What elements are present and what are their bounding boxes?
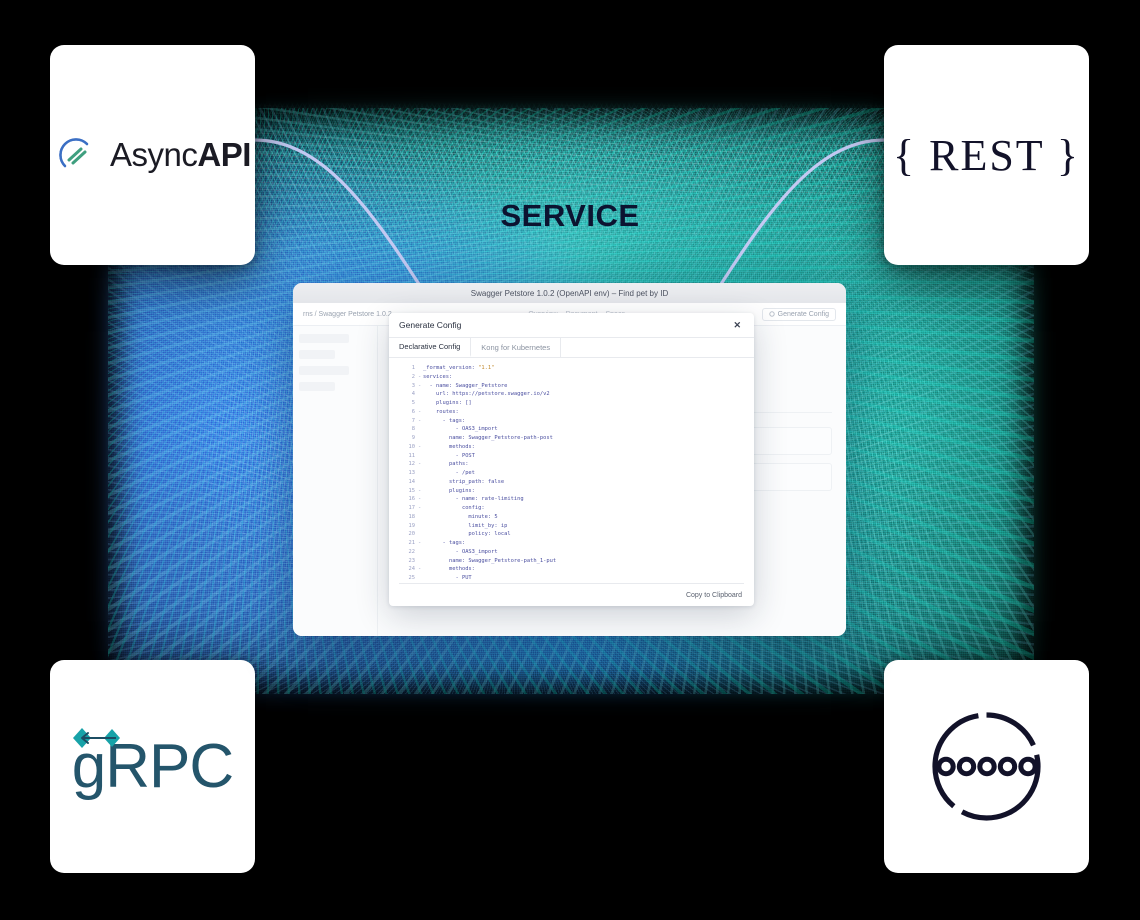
code-line: 6- routes: — [399, 408, 744, 417]
code-line: 3- - name: Swagger_Petstore — [399, 382, 744, 391]
line-number: 25 — [399, 574, 418, 583]
generate-config-button[interactable]: Generate Config — [762, 308, 836, 321]
card-grpc[interactable]: gRPC — [50, 660, 255, 873]
sidebar-placeholder — [299, 350, 335, 359]
code-text: name: Swagger_Petstore-path-post — [423, 434, 553, 443]
line-number: 22 — [399, 548, 418, 557]
line-number: 19 — [399, 522, 418, 531]
generate-config-modal[interactable]: Generate Config ✕ Declarative Config Kon… — [389, 313, 754, 606]
code-line: 4 url: https://petstore.swagger.io/v2 — [399, 390, 744, 399]
code-line: 2-services: — [399, 373, 744, 382]
code-line: 10- methods: — [399, 443, 744, 452]
swagger-sidebar[interactable] — [293, 326, 378, 636]
line-number: 10 — [399, 443, 418, 452]
code-text: minute: 5 — [423, 513, 498, 522]
card-asyncapi[interactable]: AsyncAPI — [50, 45, 255, 265]
close-icon[interactable]: ✕ — [730, 319, 744, 332]
code-line: 23 name: Swagger_Petstore-path_1-put — [399, 557, 744, 566]
line-number: 14 — [399, 478, 418, 487]
code-line: 12- paths: — [399, 460, 744, 469]
code-line: 14 strip_path: false — [399, 478, 744, 487]
code-text: methods: — [423, 565, 475, 574]
window-titlebar: Swagger Petstore 1.0.2 (OpenAPI env) – F… — [293, 283, 846, 304]
line-number: 2 — [399, 373, 418, 382]
line-number: 6 — [399, 408, 418, 417]
line-number: 7 — [399, 417, 418, 426]
code-text: plugins: [] — [423, 399, 472, 408]
code-text: routes: — [423, 408, 459, 417]
code-line: 9 name: Swagger_Petstore-path-post — [399, 434, 744, 443]
canvas: SERVICE AsyncAPI { REST } — [0, 0, 1140, 920]
card-rest[interactable]: { REST } — [884, 45, 1089, 265]
line-number: 21 — [399, 539, 418, 548]
code-text: policy: local — [423, 530, 511, 539]
code-line: 24- methods: — [399, 565, 744, 574]
code-text: - /pet — [423, 469, 475, 478]
code-line: 13 - /pet — [399, 469, 744, 478]
code-content: 1_format_version: "1.1"2-services:3- - n… — [399, 364, 744, 584]
code-text: _format_version: "1.1" — [423, 364, 494, 373]
code-text: - POST — [423, 452, 475, 461]
code-line: 11 - POST — [399, 452, 744, 461]
line-number: 12 — [399, 460, 418, 469]
code-text: - name: rate-limiting — [423, 495, 524, 504]
asyncapi-logo-icon — [54, 133, 98, 177]
code-text: - tags: — [423, 539, 465, 548]
code-text: - OAS3_import — [423, 425, 498, 434]
modal-title: Generate Config — [399, 320, 730, 330]
asyncapi-wordmark: AsyncAPI — [110, 136, 251, 174]
line-number: 9 — [399, 434, 418, 443]
code-line: 19 limit_by: ip — [399, 522, 744, 531]
code-line: 20 policy: local — [399, 530, 744, 539]
window-title: Swagger Petstore 1.0.2 (OpenAPI env) – F… — [471, 289, 668, 298]
code-text: paths: — [423, 460, 468, 469]
line-number: 4 — [399, 390, 418, 399]
sidebar-placeholder — [299, 334, 349, 343]
tab-kong-for-kubernetes[interactable]: Kong for Kubernetes — [471, 338, 561, 357]
code-line: 25 - PUT — [399, 574, 744, 583]
asyncapi-word-api: API — [197, 136, 251, 173]
code-text: - tags: — [423, 417, 465, 426]
code-string: "1.1" — [478, 365, 494, 371]
copy-to-clipboard-button[interactable]: Copy to Clipboard — [686, 592, 742, 599]
line-number: 5 — [399, 399, 418, 408]
breadcrumb[interactable]: rns / Swagger Petstore 1.0.2 — [303, 311, 392, 318]
line-number: 3 — [399, 382, 418, 391]
modal-footer: Copy to Clipboard — [389, 584, 754, 606]
code-text: - OAS3_import — [423, 548, 498, 557]
code-line: 22 - OAS3_import — [399, 548, 744, 557]
code-line: 18 minute: 5 — [399, 513, 744, 522]
code-line: 5 plugins: [] — [399, 399, 744, 408]
line-number: 16 — [399, 495, 418, 504]
code-line: 1_format_version: "1.1" — [399, 364, 744, 373]
line-number: 18 — [399, 513, 418, 522]
code-line: 17- config: — [399, 504, 744, 513]
app-window[interactable]: Swagger Petstore 1.0.2 (OpenAPI env) – F… — [293, 283, 846, 636]
code-line: 15- plugins: — [399, 487, 744, 496]
rest-wordmark: { REST } — [893, 130, 1080, 181]
code-line: 16- - name: rate-limiting — [399, 495, 744, 504]
circle-dots-icon — [924, 704, 1049, 829]
line-number: 13 — [399, 469, 418, 478]
code-line: 21- - tags: — [399, 539, 744, 548]
line-number: 20 — [399, 530, 418, 539]
code-text: config: — [423, 504, 485, 513]
line-number: 17 — [399, 504, 418, 513]
code-line: 7- - tags: — [399, 417, 744, 426]
code-text: limit_by: ip — [423, 522, 507, 531]
modal-tabs: Declarative Config Kong for Kubernetes — [389, 338, 754, 358]
sidebar-placeholder — [299, 382, 335, 391]
line-number: 24 — [399, 565, 418, 574]
code-text: methods: — [423, 443, 475, 452]
tab-declarative-config[interactable]: Declarative Config — [389, 338, 471, 357]
modal-header: Generate Config ✕ — [389, 313, 754, 338]
line-number: 8 — [399, 425, 418, 434]
asyncapi-word-async: Async — [110, 136, 197, 173]
code-line: 8 - OAS3_import — [399, 425, 744, 434]
code-text: - PUT — [423, 574, 472, 583]
card-circle-dots[interactable] — [884, 660, 1089, 873]
code-text: strip_path: false — [423, 478, 504, 487]
generate-config-label: Generate Config — [778, 311, 829, 318]
code-text: url: https://petstore.swagger.io/v2 — [423, 390, 550, 399]
code-text: services: — [423, 373, 452, 382]
gear-icon — [769, 311, 775, 317]
line-number: 23 — [399, 557, 418, 566]
code-text: - name: Swagger_Petstore — [423, 382, 507, 391]
line-number: 11 — [399, 452, 418, 461]
line-number: 1 — [399, 364, 418, 373]
code-text: plugins: — [423, 487, 475, 496]
line-number: 15 — [399, 487, 418, 496]
grpc-arrow-icon — [68, 725, 130, 751]
sidebar-placeholder — [299, 366, 349, 375]
code-text: name: Swagger_Petstore-path_1-put — [423, 557, 556, 566]
code-viewer[interactable]: 1_format_version: "1.1"2-services:3- - n… — [399, 358, 744, 584]
